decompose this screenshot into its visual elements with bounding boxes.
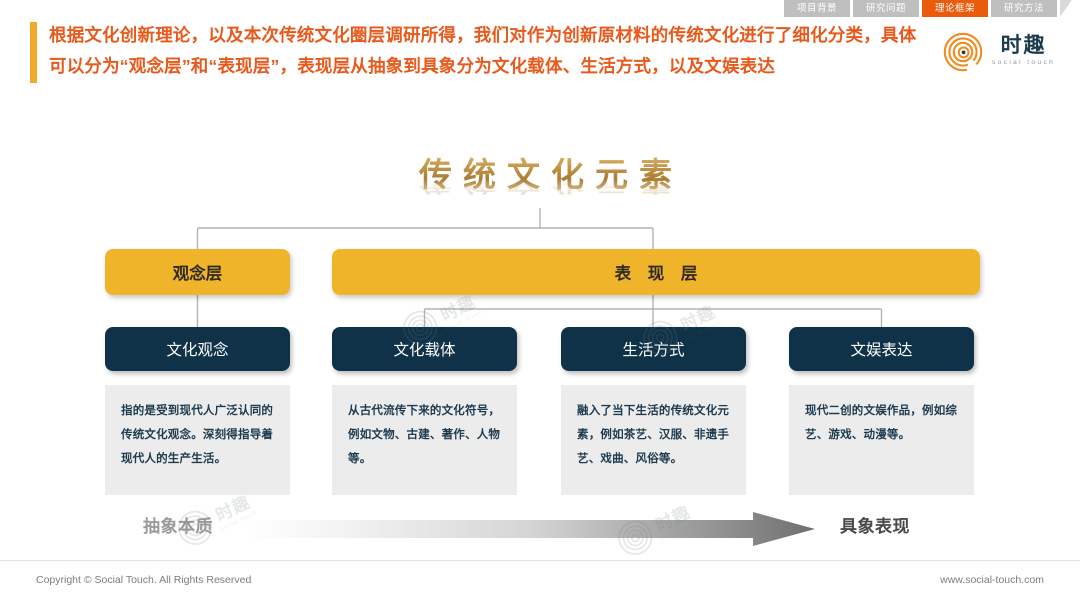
brand-logo: 时趣 social touch — [943, 32, 1055, 72]
description-lifestyle: 融入了当下生活的传统文化元素，例如茶艺、汉服、非遗手艺、戏曲、风俗等。 — [561, 385, 746, 495]
description-cultural-carrier: 从古代流传下来的文化符号，例如文物、古建、著作、人物等。 — [332, 385, 517, 495]
diagram-node-cultural-concept[interactable]: 文化观念 — [105, 327, 290, 371]
axis-label-concrete: 具象表现 — [840, 515, 910, 539]
right-arrow-gradient-icon — [245, 512, 815, 546]
brand-name-cn: 时趣 — [1001, 35, 1047, 57]
footer-copyright: Copyright © Social Touch. All Rights Res… — [36, 572, 251, 588]
node-label: 观念层 — [173, 260, 223, 284]
diagram-node-entertainment[interactable]: 文娱表达 — [789, 327, 974, 371]
diagram-node-cultural-carrier[interactable]: 文化载体 — [332, 327, 517, 371]
nav-tabs: 项目背景 研究问题 理论框架 研究方法 — [784, 0, 1072, 17]
nav-tab-research-question[interactable]: 研究问题 — [853, 0, 919, 17]
brand-wordmark: 时趣 social touch — [992, 35, 1055, 70]
diagram-node-lifestyle[interactable]: 生活方式 — [561, 327, 746, 371]
brand-name-en: social touch — [992, 58, 1055, 68]
diagram-title: 传统文化元素 — [0, 155, 1080, 195]
description-entertainment: 现代二创的文娱作品，例如综艺、游戏、动漫等。 — [789, 385, 974, 495]
nav-tab-label: 研究问题 — [866, 4, 906, 14]
page-corner-fold-icon — [1060, 0, 1072, 17]
nav-tab-label: 项目背景 — [797, 4, 837, 14]
spiral-concentric-circles-icon — [943, 32, 983, 72]
diagram-node-concept-layer[interactable]: 观念层 — [105, 249, 290, 295]
description-cultural-concept: 指的是受到现代人广泛认同的传统文化观念。深刻得指导着现代人的生产生活。 — [105, 385, 290, 495]
nav-tab-theoretical-framework[interactable]: 理论框架 — [922, 0, 988, 17]
nav-tab-research-method[interactable]: 研究方法 — [991, 0, 1057, 17]
abstraction-axis: 抽象本质 具象表现 — [0, 505, 1080, 551]
node-label: 文娱表达 — [850, 338, 912, 360]
footer-url[interactable]: www.social-touch.com — [940, 572, 1044, 588]
diagram-node-expression-layer[interactable]: 表 现 层 — [332, 249, 980, 295]
node-label: 文化观念 — [166, 338, 228, 360]
node-label: 表 现 层 — [615, 260, 704, 284]
page-title: 根据文化创新理论，以及本次传统文化圈层调研所得，我们对作为创新原材料的传统文化进… — [49, 20, 929, 82]
axis-label-abstract: 抽象本质 — [143, 515, 213, 539]
nav-tab-project-background[interactable]: 项目背景 — [784, 0, 850, 17]
node-label: 文化载体 — [393, 338, 455, 360]
nav-tab-label: 研究方法 — [1004, 4, 1044, 14]
footer-divider — [0, 560, 1080, 561]
header-accent-bar — [30, 22, 37, 83]
nav-tab-label: 理论框架 — [935, 4, 975, 14]
node-label: 生活方式 — [622, 338, 684, 360]
